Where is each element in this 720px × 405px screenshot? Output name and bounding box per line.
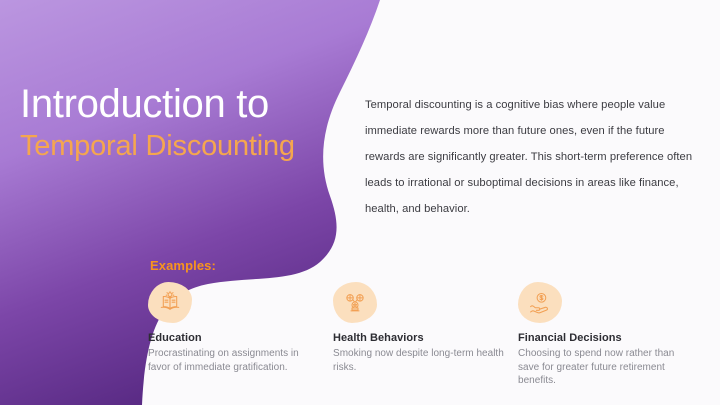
example-description: Choosing to spend now rather than save f… [518, 347, 691, 388]
financial-icon-container [518, 282, 562, 323]
example-description: Procrastinating on assignments in favor … [148, 347, 321, 374]
example-title: Education [148, 332, 321, 344]
page-title-secondary: Temporal Discounting [20, 129, 360, 163]
education-icon-container [148, 282, 192, 323]
body-paragraph: Temporal discounting is a cognitive bias… [365, 92, 695, 222]
title-block: Introduction to Temporal Discounting [20, 82, 360, 163]
example-title: Financial Decisions [518, 332, 691, 344]
example-card-financial: Financial Decisions Choosing to spend no… [518, 282, 703, 388]
slide-canvas: Introduction to Temporal Discounting Tem… [0, 0, 720, 405]
page-title-primary: Introduction to [20, 82, 360, 126]
example-title: Health Behaviors [333, 332, 506, 344]
example-card-health: Health Behaviors Smoking now despite lon… [333, 282, 518, 388]
examples-heading: Examples: [150, 258, 216, 273]
example-description: Smoking now despite long-term health ris… [333, 347, 506, 374]
examples-card-list: Education Procrastinating on assignments… [148, 282, 708, 388]
health-icon-container [333, 282, 377, 323]
book-lightbulb-icon [158, 291, 182, 315]
hand-holding-coin-icon [529, 291, 552, 314]
example-card-education: Education Procrastinating on assignments… [148, 282, 333, 388]
lungs-medical-icon [344, 292, 366, 314]
